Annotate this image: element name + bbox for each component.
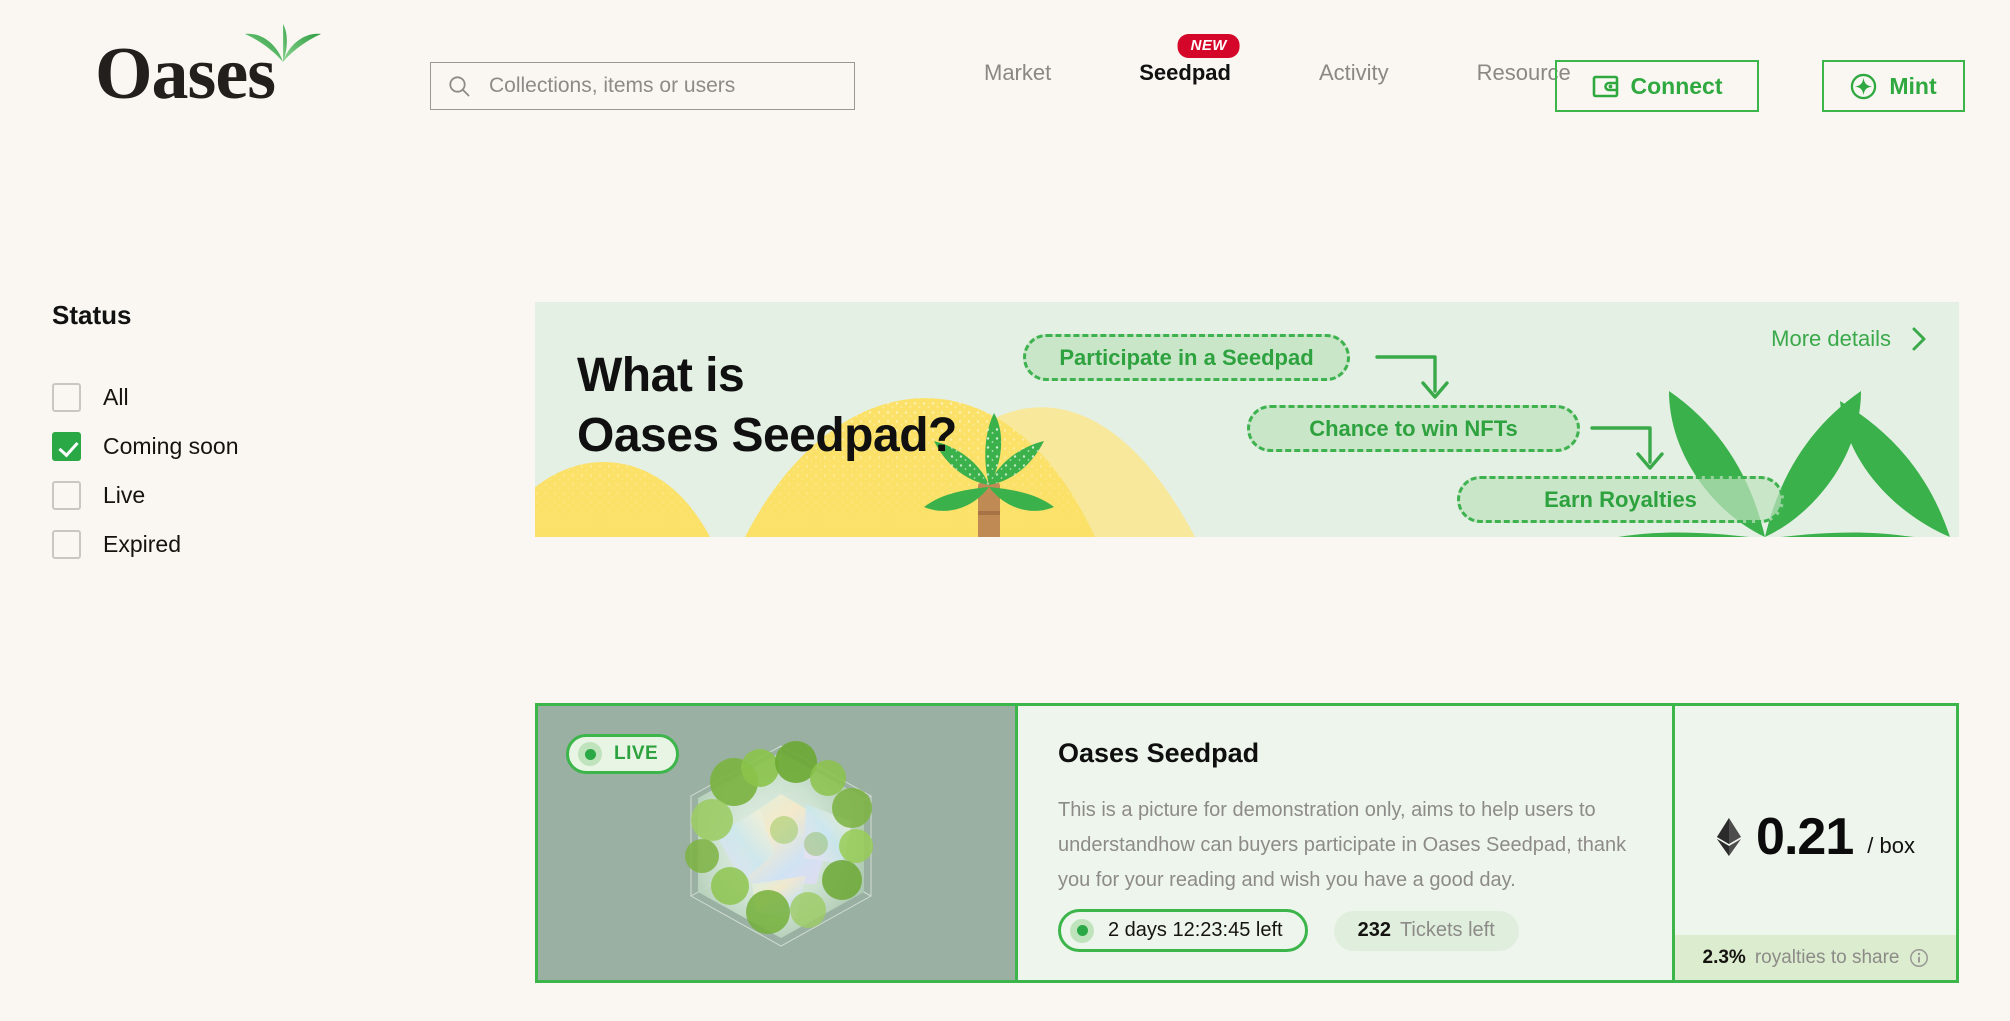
- card-price-panel: 0.21 / box 2.3% royalties to share: [1672, 706, 1956, 980]
- status-filter-sidebar: Status All Coming soon Live Expired: [52, 300, 372, 569]
- royalties-bar: 2.3% royalties to share: [1675, 935, 1956, 980]
- banner-title-line2: Oases Seedpad?: [577, 406, 957, 466]
- banner-step-2: Chance to win NFTs: [1247, 405, 1580, 452]
- nav-label-activity: Activity: [1319, 60, 1389, 85]
- countdown-chip: 2 days 12:23:45 left: [1058, 909, 1308, 952]
- tickets-count: 232: [1358, 919, 1391, 942]
- card-content-panel: Oases Seedpad This is a picture for demo…: [1015, 706, 1672, 980]
- sidebar-title: Status: [52, 300, 372, 331]
- ethereum-icon: [1716, 817, 1742, 857]
- banner-step-2-label: Chance to win NFTs: [1309, 416, 1518, 442]
- wallet-icon: [1592, 74, 1619, 99]
- filter-label-all: All: [103, 384, 129, 411]
- filter-row-live[interactable]: Live: [52, 471, 372, 520]
- checkbox-all[interactable]: [52, 383, 81, 412]
- palm-leaf-icon: [243, 22, 323, 64]
- nav-item-seedpad[interactable]: NEW Seedpad: [1095, 60, 1275, 86]
- seedpad-card[interactable]: LIVE: [535, 703, 1959, 983]
- filter-row-all[interactable]: All: [52, 373, 372, 422]
- sparkle-circle-icon: [1850, 73, 1877, 100]
- royalties-label: royalties to share: [1755, 947, 1900, 969]
- nft-artwork-image: [656, 734, 906, 959]
- connect-button[interactable]: Connect: [1555, 60, 1759, 112]
- more-details-link[interactable]: More details: [1771, 326, 1927, 352]
- card-title: Oases Seedpad: [1058, 738, 1634, 769]
- live-dot-icon: [578, 742, 602, 766]
- checkbox-live[interactable]: [52, 481, 81, 510]
- filter-row-coming-soon[interactable]: Coming soon: [52, 422, 372, 471]
- filter-row-expired[interactable]: Expired: [52, 520, 372, 569]
- filter-label-live: Live: [103, 482, 145, 509]
- card-artwork-panel: LIVE: [538, 706, 1015, 980]
- new-badge: NEW: [1178, 34, 1240, 58]
- royalties-percent: 2.3%: [1703, 947, 1746, 969]
- countdown-label: 2 days 12:23:45 left: [1108, 919, 1283, 942]
- info-icon[interactable]: [1909, 948, 1929, 968]
- mint-button[interactable]: Mint: [1822, 60, 1965, 112]
- status-badge-label: LIVE: [614, 743, 658, 765]
- price-unit: / box: [1867, 833, 1915, 867]
- site-header: Oases Market NEW Seedpad Activity: [0, 0, 2010, 145]
- price-value: 0.21: [1756, 807, 1853, 867]
- banner-title-line1: What is: [577, 346, 957, 406]
- chevron-right-icon: [1911, 326, 1927, 352]
- price-row: 0.21 / box: [1675, 807, 1956, 867]
- flow-arrow-1: [1373, 347, 1451, 409]
- search-icon: [447, 74, 471, 98]
- nav-item-market[interactable]: Market: [940, 60, 1095, 86]
- search-input[interactable]: [487, 73, 837, 99]
- banner-step-3-label: Earn Royalties: [1544, 487, 1697, 513]
- main-nav: Market NEW Seedpad Activity Resource: [940, 60, 1615, 86]
- card-description: This is a picture for demonstration only…: [1058, 793, 1634, 898]
- filter-label-coming-soon: Coming soon: [103, 433, 239, 460]
- seedpad-info-banner[interactable]: What is Oases Seedpad? More details Part…: [535, 302, 1959, 537]
- mint-label: Mint: [1889, 73, 1936, 100]
- countdown-dot-icon: [1070, 919, 1094, 943]
- status-badge-live: LIVE: [566, 734, 679, 774]
- banner-title: What is Oases Seedpad?: [577, 346, 957, 466]
- checkbox-expired[interactable]: [52, 530, 81, 559]
- filter-label-expired: Expired: [103, 531, 181, 558]
- search-box[interactable]: [430, 62, 855, 110]
- tickets-chip: 232 Tickets left: [1334, 911, 1519, 951]
- flow-arrow-2: [1588, 418, 1666, 480]
- connect-label: Connect: [1631, 73, 1723, 100]
- banner-step-1-label: Participate in a Seedpad: [1059, 345, 1313, 371]
- brand-logo[interactable]: Oases: [95, 38, 355, 110]
- nav-item-activity[interactable]: Activity: [1275, 60, 1433, 86]
- checkbox-coming-soon[interactable]: [52, 432, 81, 461]
- banner-step-3: Earn Royalties: [1457, 476, 1784, 523]
- nav-label-market: Market: [984, 60, 1051, 85]
- banner-step-1: Participate in a Seedpad: [1023, 334, 1350, 381]
- more-details-label: More details: [1771, 326, 1891, 352]
- tickets-label: Tickets left: [1400, 919, 1495, 942]
- card-meta-row: 2 days 12:23:45 left 232 Tickets left: [1058, 909, 1519, 952]
- nav-label-seedpad: Seedpad: [1139, 60, 1231, 85]
